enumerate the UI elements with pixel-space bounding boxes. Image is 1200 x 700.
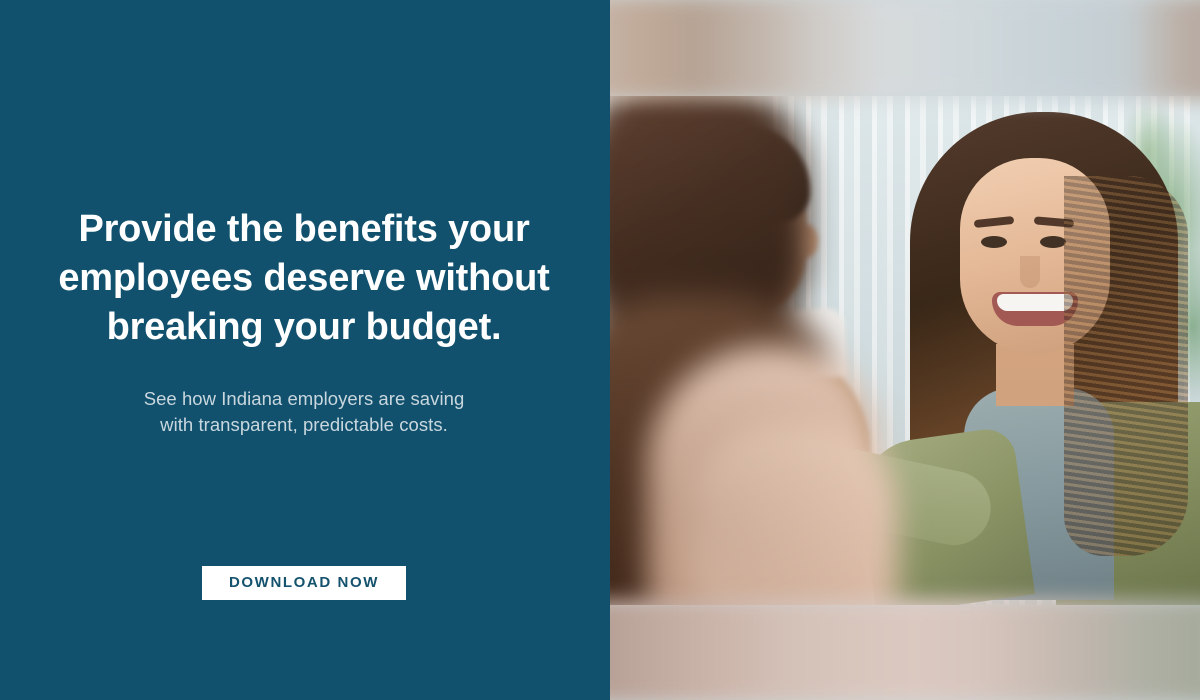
cta-wrapper: DOWNLOAD NOW [0, 566, 608, 600]
headline-line-3: breaking your budget. [107, 306, 502, 348]
page-title: Provide the benefits your employees dese… [0, 205, 608, 352]
subheadline-line-2: with transparent, predictable costs. [160, 414, 448, 435]
hero-photo-inner [608, 0, 1200, 700]
woman-teeth [997, 294, 1073, 311]
headline-line-1: Provide the benefits your [78, 208, 529, 250]
photo-blur-band-bottom [608, 599, 1200, 700]
subheadline: See how Indiana employers are saving wit… [0, 386, 608, 438]
promo-banner: Provide the benefits your employees dese… [0, 0, 1200, 700]
woman-hair-strands [1064, 176, 1188, 556]
photo-blur-band-top [608, 0, 1200, 100]
person-woman-green-blazer [888, 106, 1200, 605]
subheadline-line-1: See how Indiana employers are saving [144, 388, 465, 409]
foreground-hand [688, 426, 898, 605]
left-copy-panel: Provide the benefits your employees dese… [0, 0, 608, 700]
download-now-button[interactable]: DOWNLOAD NOW [202, 566, 406, 600]
headline-line-2: employees deserve without [58, 257, 549, 299]
person-blurred-foreground [608, 96, 818, 605]
woman-nose [1020, 256, 1040, 288]
woman-eye-right [1040, 236, 1066, 248]
office-scene [608, 96, 1200, 605]
photo-left-seam [608, 0, 610, 700]
hero-photo [608, 0, 1200, 700]
woman-eye-left [981, 236, 1007, 248]
copy-block: Provide the benefits your employees dese… [0, 205, 608, 438]
